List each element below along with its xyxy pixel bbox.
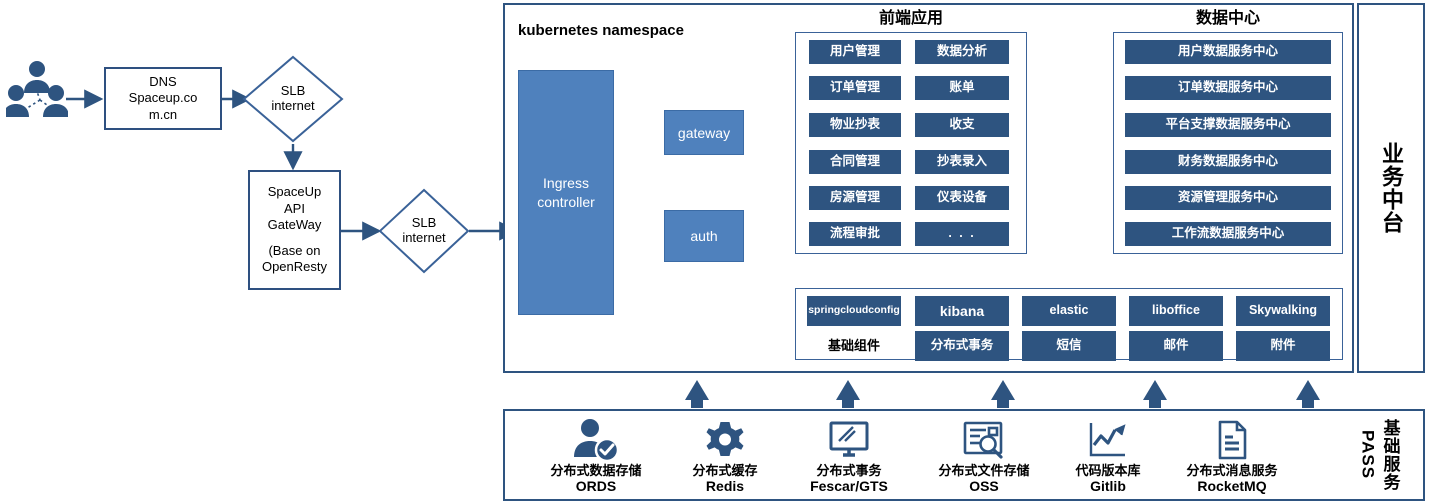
component-springcloudconfig-label: springcloudconfig [808, 305, 900, 316]
datacenter-item-5[interactable]: 工作流数据服务中心 [1125, 222, 1331, 246]
chart-up-icon [1082, 417, 1134, 463]
frontend-item-7-label: 账单 [949, 81, 974, 94]
pass-item-rocketmq-title: 分布式消息服务 [1186, 463, 1277, 479]
datacenter-item-4-label: 资源管理服务中心 [1178, 191, 1278, 204]
datacenter-item-4[interactable]: 资源管理服务中心 [1125, 186, 1331, 210]
dns-line-1: DNS [129, 74, 198, 90]
frontend-group-title: 前端应用 [795, 4, 1027, 26]
component-attachment[interactable]: 附件 [1236, 331, 1330, 361]
datacenter-item-3-label: 财务数据服务中心 [1178, 155, 1278, 168]
component-kibana[interactable]: kibana [915, 296, 1009, 326]
frontend-item-8-label: 收支 [949, 118, 974, 131]
dns-line-3: m.cn [129, 107, 198, 123]
component-liboffice[interactable]: liboffice [1129, 296, 1223, 326]
pass-item-redis-name: Redis [692, 478, 757, 495]
pass-item-oss-name: OSS [938, 478, 1029, 495]
gateway-label: gateway [678, 125, 730, 141]
component-springcloudconfig[interactable]: springcloudconfig [807, 296, 901, 326]
component-sms-label: 短信 [1056, 339, 1081, 352]
pass-item-gitlib-title: 代码版本库 [1075, 463, 1140, 479]
component-distributed-transaction[interactable]: 分布式事务 [915, 331, 1009, 361]
apigw-line-3: GateWay [262, 217, 327, 233]
datacenter-item-1-label: 订单数据服务中心 [1178, 81, 1278, 94]
component-email-label: 邮件 [1163, 339, 1188, 352]
pass-vertical-label-group: PASS 基础服务 [1340, 414, 1420, 496]
component-email[interactable]: 邮件 [1129, 331, 1223, 361]
datacenter-group-panel [1113, 32, 1343, 254]
auth-box[interactable]: auth [664, 210, 744, 262]
component-skywalking[interactable]: Skywalking [1236, 296, 1330, 326]
frontend-item-0-label: 用户管理 [830, 45, 880, 58]
pass-item-oss-title: 分布式文件存储 [938, 463, 1029, 479]
component-distributed-transaction-label: 分布式事务 [931, 339, 994, 352]
slb-top-line-2: internet [271, 99, 314, 114]
frontend-item-9-label: 抄表录入 [937, 155, 987, 168]
user-check-icon [570, 417, 622, 463]
frontend-item-2[interactable]: 物业抄表 [809, 113, 901, 137]
apigw-line-2: API [262, 201, 327, 217]
pass-item-redis-title: 分布式缓存 [692, 463, 757, 479]
apigw-line-1: SpaceUp [262, 184, 327, 200]
frontend-item-5[interactable]: 流程审批 [809, 222, 901, 246]
slb-internet-bottom[interactable]: SLB internet [378, 188, 470, 274]
pass-item-rocketmq-name: RocketMQ [1186, 478, 1277, 495]
auth-label: auth [690, 228, 717, 244]
datacenter-item-3[interactable]: 财务数据服务中心 [1125, 150, 1331, 174]
components-group-label: 基础组件 [807, 331, 901, 357]
frontend-item-6-label: 数据分析 [937, 45, 987, 58]
pass-item-gitlib[interactable]: 代码版本库 Gitlib [1056, 415, 1160, 495]
frontend-item-5-label: 流程审批 [830, 227, 880, 240]
document-icon [1206, 417, 1258, 463]
components-group-label-text: 基础组件 [828, 335, 880, 354]
kubernetes-namespace-title: kubernetes namespace [518, 22, 818, 42]
frontend-item-8[interactable]: 收支 [915, 113, 1009, 137]
business-middle-platform-label: 业务中台 [1375, 142, 1407, 234]
component-liboffice-label: liboffice [1152, 304, 1200, 317]
datacenter-item-0-label: 用户数据服务中心 [1178, 45, 1278, 58]
frontend-item-4-label: 房源管理 [830, 191, 880, 204]
ingress-line-2: controller [537, 193, 595, 211]
architecture-diagram: DNS Spaceup.co m.cn SLB internet SpaceUp… [0, 0, 1429, 504]
pass-item-gitlib-name: Gitlib [1075, 478, 1140, 495]
frontend-item-6[interactable]: 数据分析 [915, 40, 1009, 64]
frontend-item-3[interactable]: 合同管理 [809, 150, 901, 174]
frontend-item-4[interactable]: 房源管理 [809, 186, 901, 210]
pass-item-oss[interactable]: 分布式文件存储 OSS [916, 415, 1052, 495]
frontend-item-2-label: 物业抄表 [830, 118, 880, 131]
file-search-icon [958, 417, 1010, 463]
slb-internet-top[interactable]: SLB internet [242, 55, 344, 143]
frontend-item-7[interactable]: 账单 [915, 76, 1009, 100]
frontend-item-9[interactable]: 抄表录入 [915, 150, 1009, 174]
component-kibana-label: kibana [940, 304, 984, 319]
datacenter-item-0[interactable]: 用户数据服务中心 [1125, 40, 1331, 64]
pass-item-rocketmq[interactable]: 分布式消息服务 RocketMQ [1164, 415, 1300, 495]
datacenter-group-title: 数据中心 [1113, 4, 1343, 26]
dns-box[interactable]: DNS Spaceup.co m.cn [104, 67, 222, 130]
frontend-item-1-label: 订单管理 [830, 81, 880, 94]
pass-item-fescar-name: Fescar/GTS [810, 478, 888, 495]
component-sms[interactable]: 短信 [1022, 331, 1116, 361]
apigw-line-5: (Base on [262, 243, 327, 259]
pass-item-ords-title: 分布式数据存储 [550, 463, 641, 479]
datacenter-item-2-label: 平台支撑数据服务中心 [1165, 118, 1290, 131]
frontend-item-0[interactable]: 用户管理 [809, 40, 901, 64]
gateway-box[interactable]: gateway [664, 110, 744, 155]
pass-item-fescar-title: 分布式事务 [810, 463, 888, 479]
pass-vertical-label-cn: 基础服务 [1378, 419, 1403, 491]
pass-item-ords-name: ORDS [550, 478, 641, 495]
frontend-item-10[interactable]: 仪表设备 [915, 186, 1009, 210]
gear-icon [699, 417, 751, 463]
datacenter-item-2[interactable]: 平台支撑数据服务中心 [1125, 113, 1331, 137]
datacenter-item-1[interactable]: 订单数据服务中心 [1125, 76, 1331, 100]
three-people-icon [6, 57, 68, 119]
ingress-line-1: Ingress [537, 174, 595, 192]
business-middle-platform-panel: 业务中台 [1357, 3, 1425, 373]
ingress-controller-box[interactable]: Ingress controller [518, 70, 614, 315]
component-elastic[interactable]: elastic [1022, 296, 1116, 326]
pass-item-ords[interactable]: 分布式数据存储 ORDS [528, 415, 664, 495]
component-elastic-label: elastic [1050, 304, 1089, 317]
slb-bottom-line-2: internet [402, 231, 445, 246]
dns-line-2: Spaceup.co [129, 90, 198, 106]
pass-item-redis[interactable]: 分布式缓存 Redis [668, 415, 782, 495]
slb-bottom-line-1: SLB [402, 216, 445, 231]
frontend-item-11-label: . . . [948, 227, 975, 240]
component-skywalking-label: Skywalking [1249, 304, 1317, 317]
datacenter-item-5-label: 工作流数据服务中心 [1172, 227, 1285, 240]
frontend-item-11[interactable]: . . . [915, 222, 1009, 246]
frontend-group-panel [795, 32, 1027, 254]
pass-item-fescar[interactable]: 分布式事务 Fescar/GTS [786, 415, 912, 495]
spaceup-api-gateway-box[interactable]: SpaceUp API GateWay (Base on OpenResty [248, 170, 341, 290]
frontend-item-3-label: 合同管理 [830, 155, 880, 168]
slb-top-line-1: SLB [271, 84, 314, 99]
monitor-icon [823, 417, 875, 463]
pass-vertical-label-en: PASS [1358, 430, 1378, 479]
apigw-line-6: OpenResty [262, 259, 327, 275]
component-attachment-label: 附件 [1270, 339, 1295, 352]
frontend-item-1[interactable]: 订单管理 [809, 76, 901, 100]
frontend-item-10-label: 仪表设备 [937, 191, 987, 204]
